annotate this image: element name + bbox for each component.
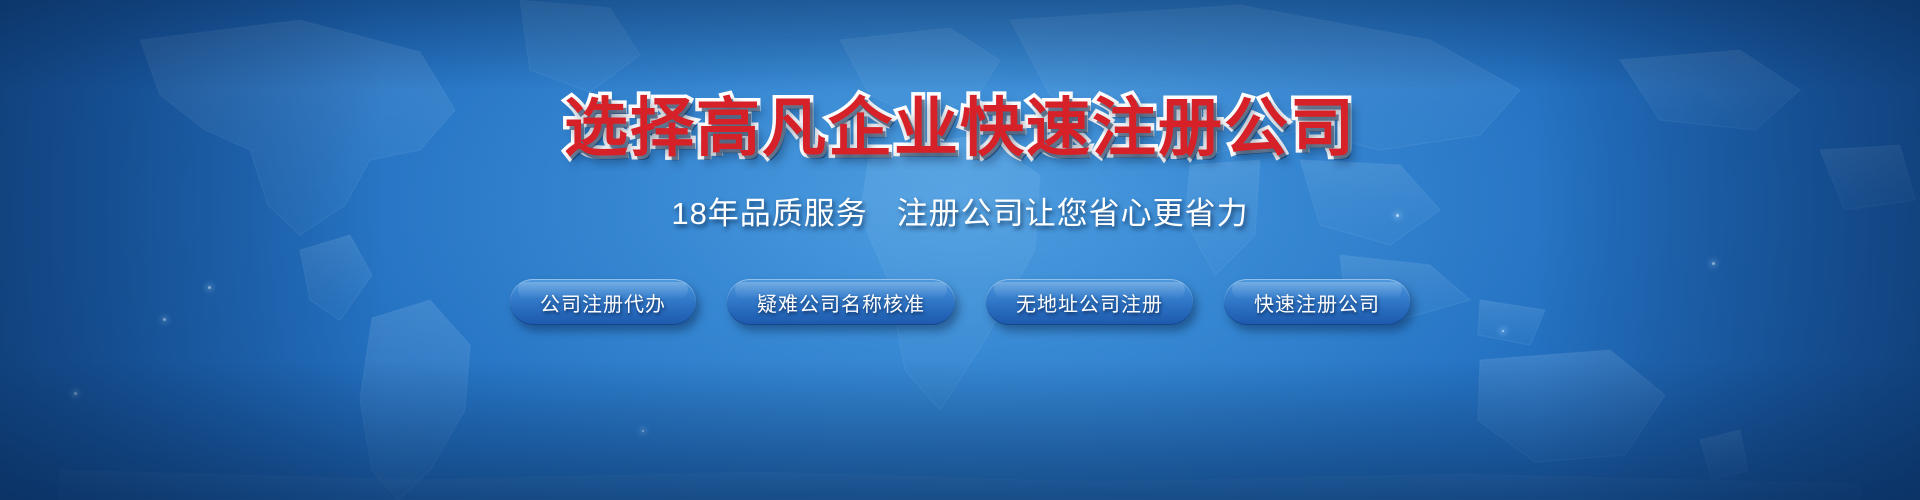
service-tag-list: 公司注册代办 疑难公司名称核准 无地址公司注册 快速注册公司 — [510, 279, 1410, 325]
service-tag-company-registration-agency[interactable]: 公司注册代办 — [510, 279, 696, 325]
banner-subtitle: 18年品质服务 注册公司让您省心更省力 — [671, 198, 1248, 229]
page-title: 选择高凡企业快速注册公司 — [564, 96, 1356, 160]
banner-content: 选择高凡企业快速注册公司 18年品质服务 注册公司让您省心更省力 公司注册代办 … — [0, 0, 1920, 500]
service-tag-fast-registration[interactable]: 快速注册公司 — [1224, 279, 1410, 325]
service-tag-difficult-name-approval[interactable]: 疑难公司名称核准 — [727, 279, 955, 325]
service-tag-no-address-registration[interactable]: 无地址公司注册 — [986, 279, 1193, 325]
hero-banner: 选择高凡企业快速注册公司 18年品质服务 注册公司让您省心更省力 公司注册代办 … — [0, 0, 1920, 500]
